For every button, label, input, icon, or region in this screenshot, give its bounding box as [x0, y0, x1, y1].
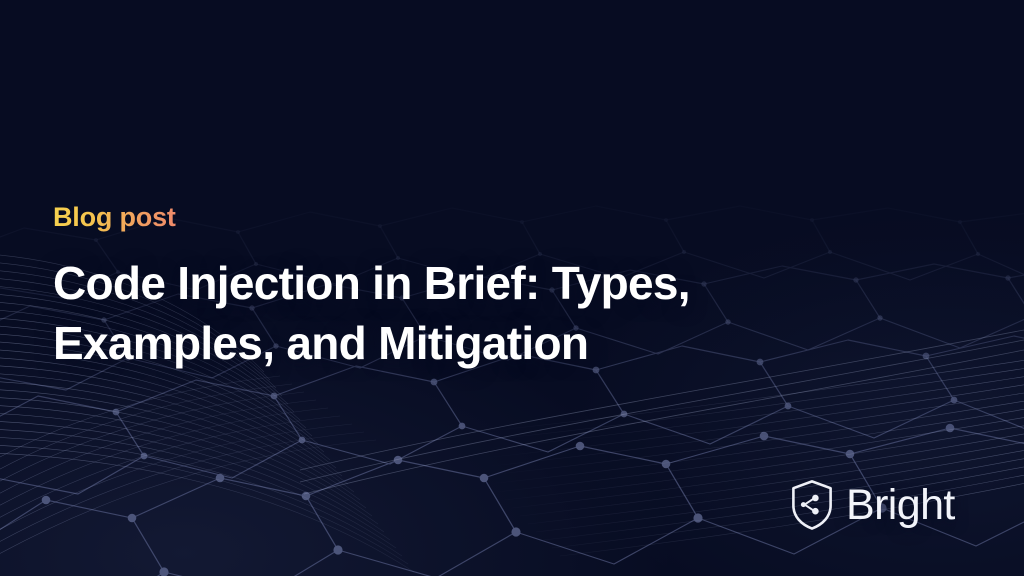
- shield-network-icon: [790, 479, 834, 531]
- page-title-line-2: Examples, and Mitigation: [53, 317, 588, 369]
- page-title-line-1: Code Injection in Brief: Types,: [53, 257, 690, 309]
- page-title: Code Injection in Brief: Types,Examples,…: [53, 253, 813, 373]
- cover-content: Blog post Code Injection in Brief: Types…: [53, 0, 813, 576]
- eyebrow-label: Blog post: [53, 202, 176, 233]
- brand-logo[interactable]: Bright: [790, 476, 955, 534]
- brand-wordmark: Bright: [846, 484, 955, 527]
- blog-post-cover: Blog post Code Injection in Brief: Types…: [0, 0, 1024, 576]
